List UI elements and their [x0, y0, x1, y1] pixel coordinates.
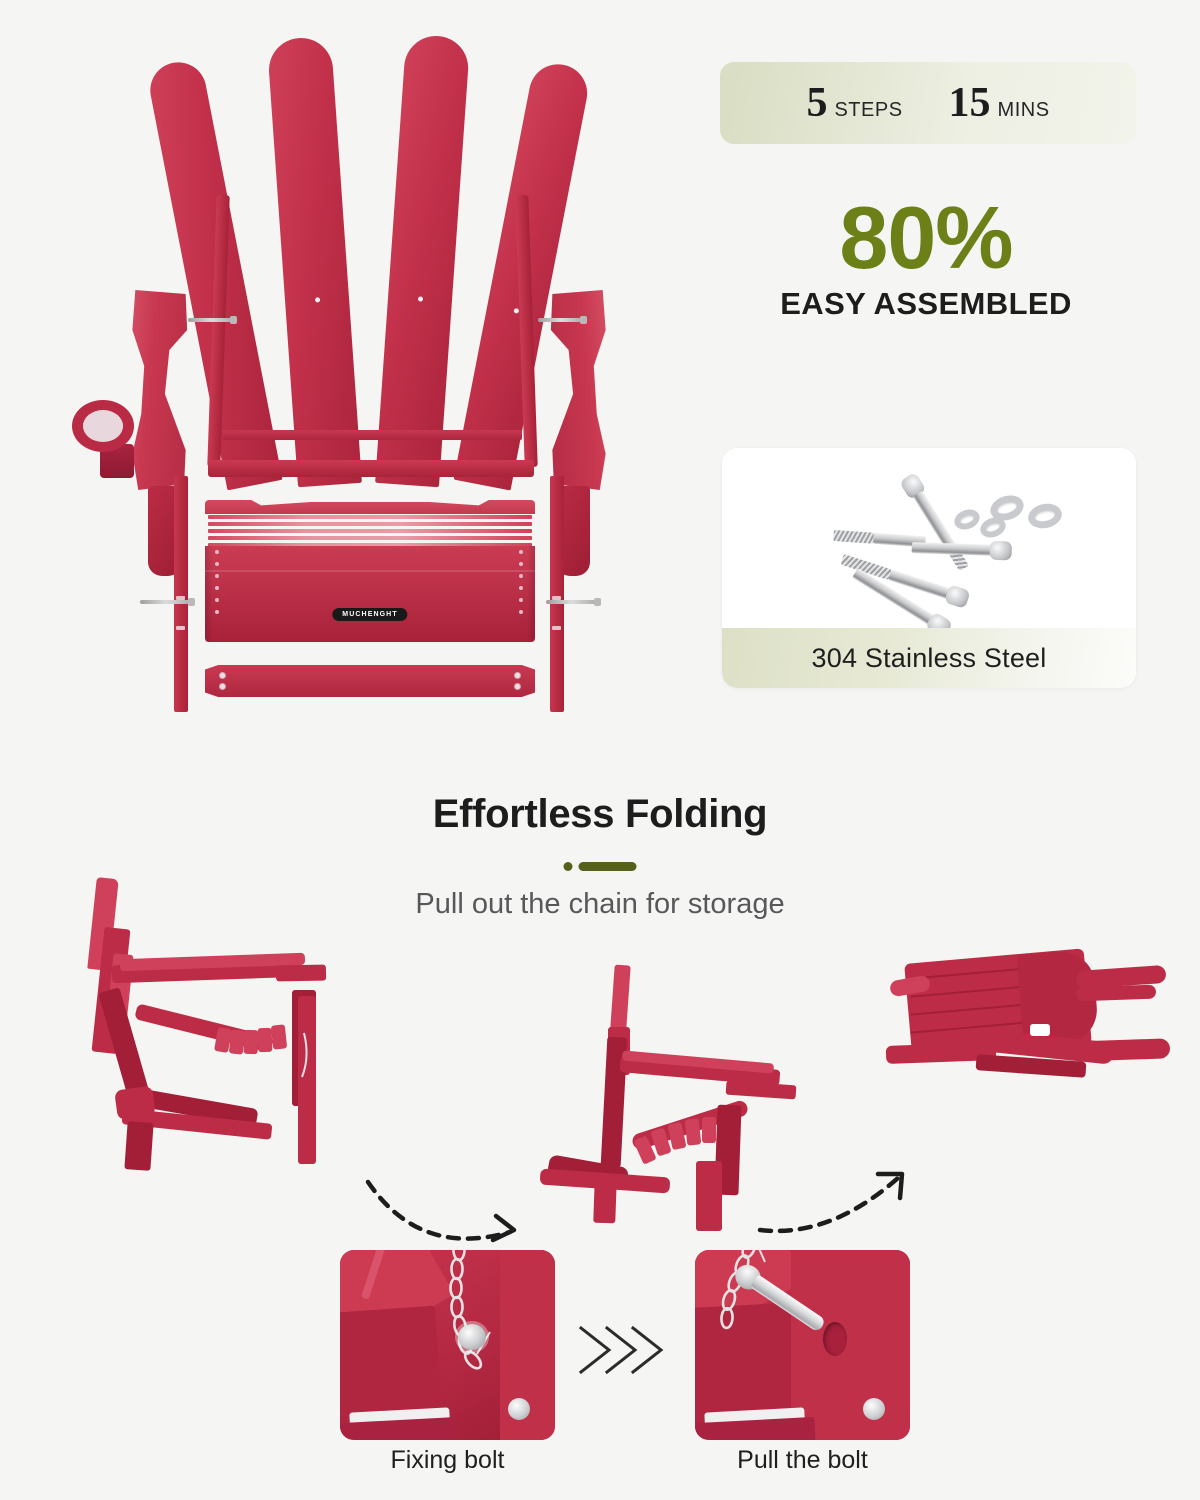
seat-slat: [208, 536, 532, 540]
washer-icon: [952, 506, 983, 533]
screw-hole-icon: [314, 297, 319, 302]
seat-slat: [208, 529, 532, 533]
cup-holder-inner: [83, 410, 123, 442]
folding-arrow-2-icon: [750, 1160, 930, 1250]
chain-icon: [428, 1250, 498, 1394]
brand-badge: MUCHENGHT: [332, 608, 407, 621]
chair-parts-illustration: MUCHENGHT: [30, 10, 710, 760]
chair-arm-left: [122, 290, 212, 520]
backrest-slat: [267, 36, 362, 487]
seat-assembly: MUCHENGHT: [205, 500, 535, 650]
percent-caption: EASY ASSEMBLED: [716, 286, 1136, 322]
bolt-thread: [833, 530, 874, 544]
percent-value: 80%: [716, 196, 1136, 280]
bolt-shank: [912, 542, 994, 556]
steel-caption: 304 Stainless Steel: [812, 643, 1047, 674]
bolt-head: [944, 584, 971, 609]
transition-chevrons: [575, 1320, 685, 1380]
top-section: MUCHENGHT 5 STEPS 1: [0, 0, 1200, 770]
arm-leg: [174, 476, 188, 712]
steps-number: 5: [806, 82, 827, 124]
chair-arm-right: [542, 290, 632, 520]
folding-title: Effortless Folding: [0, 792, 1200, 837]
seat-slat: [208, 522, 532, 526]
hardware-image: [722, 448, 1136, 630]
screw-hole-icon: [513, 308, 519, 314]
steps-time-badge: 5 STEPS 15 MINS: [720, 62, 1136, 144]
screw-hole-icon: [417, 296, 422, 301]
seat-screw-column: [519, 550, 524, 620]
seat-screw-column: [215, 550, 220, 620]
minutes-item: 15 MINS: [949, 82, 1050, 124]
folding-stages-row: [0, 870, 1200, 1240]
leg-bolt-icon: [140, 600, 192, 604]
chevron-right-triple-icon: [575, 1320, 685, 1380]
leg-pin-icon: [176, 626, 185, 630]
bottom-crossbar: [205, 665, 535, 697]
arm-leg: [550, 476, 564, 712]
fixing-bolt-label: Fixing bolt: [340, 1446, 555, 1475]
steps-item: 5 STEPS: [806, 82, 902, 124]
minutes-number: 15: [949, 82, 991, 124]
folding-stage-1: [70, 870, 400, 1220]
fixing-bolt-card: [340, 1250, 555, 1440]
easy-assembled-block: 80% EASY ASSEMBLED: [716, 196, 1136, 322]
backrest-slats: [215, 35, 525, 485]
seat-top-edge: [205, 500, 535, 514]
folding-section: Effortless Folding Pull out the chain fo…: [0, 770, 1200, 1500]
folding-arrow-1-icon: [360, 1170, 540, 1260]
backrest-bottom-bar: [208, 460, 534, 477]
rivet-icon: [863, 1398, 885, 1420]
seat-edge-left: [205, 546, 213, 642]
seat-edge-right: [527, 546, 535, 642]
bolt-head: [989, 541, 1012, 561]
stainless-steel-card: 304 Stainless Steel: [722, 448, 1136, 688]
seat-slats: [208, 513, 532, 547]
seat-slat: [208, 515, 532, 519]
folding-stage-3: [880, 940, 1180, 1140]
steps-unit: STEPS: [834, 99, 902, 122]
bolt-detail-row: Fixing bolt Pull the bolt: [0, 1250, 1200, 1500]
backrest-rail: [222, 430, 522, 440]
leg-bolt-icon: [546, 600, 598, 604]
arm-bolt-icon: [188, 318, 234, 322]
cup-holder: [72, 400, 142, 476]
minutes-unit: MINS: [998, 99, 1050, 122]
bolt-head-icon: [458, 1324, 486, 1350]
leg-pin-icon: [552, 626, 561, 630]
seat-block: MUCHENGHT: [205, 546, 535, 642]
pull-bolt-label: Pull the bolt: [695, 1446, 910, 1475]
backrest-slat: [375, 34, 470, 487]
washer-icon: [1026, 501, 1064, 532]
rivet-icon: [508, 1398, 530, 1420]
features-column: 5 STEPS 15 MINS 80% EASY ASSEMBLED: [716, 0, 1166, 760]
steel-caption-band: 304 Stainless Steel: [722, 628, 1136, 688]
pull-bolt-card: [695, 1250, 910, 1440]
arm-bolt-icon: [538, 318, 584, 322]
